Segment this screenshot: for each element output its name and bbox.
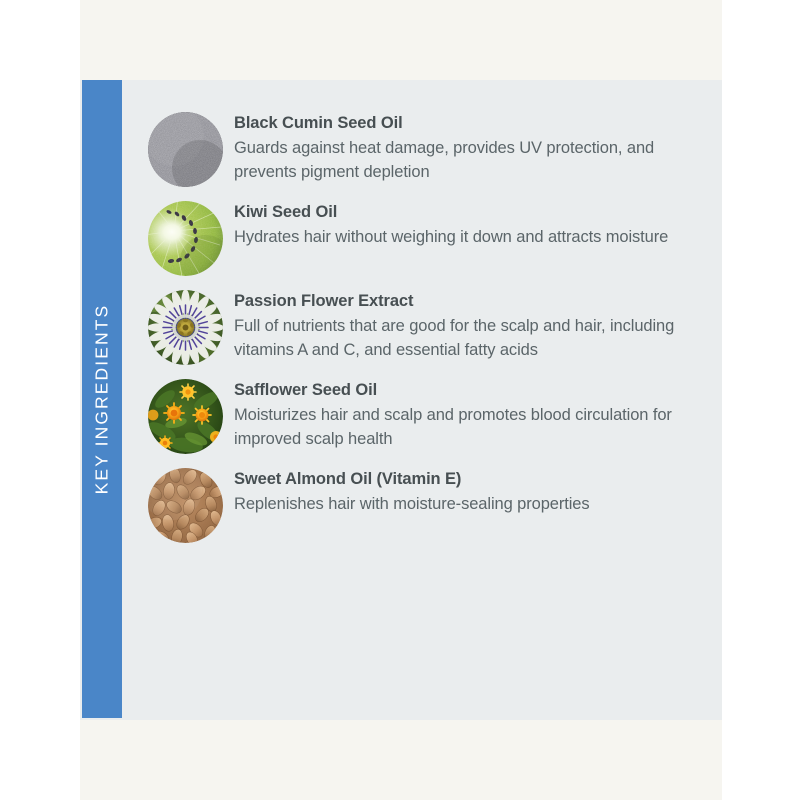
ingredient-copy: Kiwi Seed Oil Hydrates hair without weig… [234, 201, 708, 249]
list-item: Kiwi Seed Oil Hydrates hair without weig… [148, 201, 708, 276]
kiwi-seed-oil-thumbnail [148, 201, 223, 276]
ingredient-title: Sweet Almond Oil (Vitamin E) [234, 469, 708, 491]
ingredient-copy: Passion Flower Extract Full of nutrients… [234, 290, 708, 362]
key-ingredients-graphic: KEY INGREDIENTS [0, 0, 800, 800]
ingredient-copy: Safflower Seed Oil Moisturizes hair and … [234, 379, 708, 451]
ingredient-description: Moisturizes hair and scalp and promotes … [234, 403, 708, 452]
key-ingredients-panel: KEY INGREDIENTS [80, 80, 722, 720]
list-item: Safflower Seed Oil Moisturizes hair and … [148, 379, 708, 454]
ingredient-copy: Black Cumin Seed Oil Guards against heat… [234, 112, 708, 184]
safflower-seed-oil-thumbnail [148, 379, 223, 454]
passion-flower-extract-thumbnail [148, 290, 223, 365]
sweet-almond-oil-thumbnail [148, 468, 223, 543]
ingredients-list: Black Cumin Seed Oil Guards against heat… [148, 112, 708, 543]
ingredient-title: Safflower Seed Oil [234, 380, 708, 402]
black-cumin-seed-oil-thumbnail [148, 112, 223, 187]
key-ingredients-rail-label: KEY INGREDIENTS [92, 304, 113, 495]
ingredient-description: Full of nutrients that are good for the … [234, 314, 708, 363]
ingredient-description: Hydrates hair without weighing it down a… [234, 225, 708, 249]
list-item: Passion Flower Extract Full of nutrients… [148, 290, 708, 365]
ingredient-title: Kiwi Seed Oil [234, 202, 708, 224]
ingredient-description: Guards against heat damage, provides UV … [234, 136, 708, 185]
key-ingredients-rail: KEY INGREDIENTS [82, 80, 122, 718]
list-item: Sweet Almond Oil (Vitamin E) Replenishes… [148, 468, 708, 543]
ingredient-description: Replenishes hair with moisture-sealing p… [234, 492, 708, 516]
ingredient-title: Passion Flower Extract [234, 291, 708, 313]
ingredient-title: Black Cumin Seed Oil [234, 113, 708, 135]
ingredient-copy: Sweet Almond Oil (Vitamin E) Replenishes… [234, 468, 708, 516]
list-item: Black Cumin Seed Oil Guards against heat… [148, 112, 708, 187]
